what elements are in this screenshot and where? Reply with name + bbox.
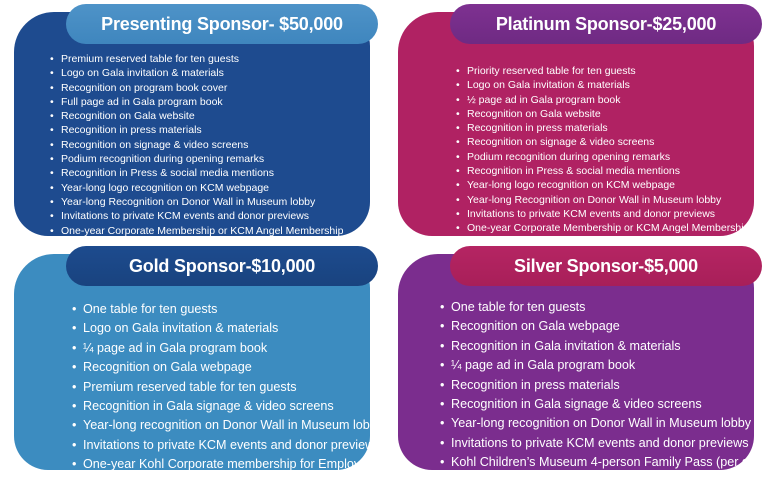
benefit-item: Year-long recognition on Donor Wall in M… xyxy=(72,416,358,435)
benefit-item: Year-long Recognition on Donor Wall in M… xyxy=(50,195,358,209)
benefit-item: Logo on Gala invitation & materials xyxy=(456,78,742,92)
card-header-presenting: Presenting Sponsor- $50,000 xyxy=(66,4,378,44)
benefit-item: Podium recognition during opening remark… xyxy=(456,150,742,164)
sponsorship-tiers-board: Presenting Sponsor- $50,000 Premium rese… xyxy=(0,0,768,496)
benefit-item: Recognition on Gala website xyxy=(50,109,358,123)
benefit-item: Year-long logo recognition on KCM webpag… xyxy=(50,181,358,195)
card-header-silver: Silver Sponsor-$5,000 xyxy=(450,246,762,286)
benefit-item: Recognition in Gala signage & video scre… xyxy=(72,397,358,416)
benefit-item: One table for ten guests xyxy=(440,298,742,317)
benefit-item: Recognition in press materials xyxy=(50,123,358,137)
benefit-item: Year-long recognition on Donor Wall in M… xyxy=(440,414,742,433)
benefit-item: Recognition on Gala website xyxy=(456,107,742,121)
benefit-item: Full page ad in Gala program book xyxy=(50,95,358,109)
benefit-item: Recognition in Press & social media ment… xyxy=(456,164,742,178)
sponsor-card-platinum: Platinum Sponsor-$25,000 Priority reserv… xyxy=(398,12,754,236)
benefit-item: Logo on Gala invitation & materials xyxy=(72,319,358,338)
benefit-item: Recognition in press materials xyxy=(440,376,742,395)
sponsor-card-silver: Silver Sponsor-$5,000 One table for ten … xyxy=(398,254,754,470)
benefit-item: Recognition in press materials xyxy=(456,121,742,135)
benefit-item: ½ page ad in Gala program book xyxy=(456,93,742,107)
benefit-item: Recognition on signage & video screens xyxy=(50,138,358,152)
benefit-item: Recognition in Gala invitation & materia… xyxy=(440,337,742,356)
benefit-item: Invitations to private KCM events and do… xyxy=(50,209,358,223)
sponsor-card-presenting: Presenting Sponsor- $50,000 Premium rese… xyxy=(14,12,370,236)
benefit-item: One-year Kohl Corporate membership for E… xyxy=(72,455,358,474)
benefit-item: Recognition on Gala webpage xyxy=(72,358,358,377)
benefits-list-silver: One table for ten guestsRecognition on G… xyxy=(440,298,742,473)
benefit-item: Year-long Recognition on Donor Wall in M… xyxy=(456,193,742,207)
benefit-item: Recognition in Press & social media ment… xyxy=(50,166,358,180)
benefit-item: Priority reserved table for ten guests xyxy=(456,64,742,78)
benefit-item: Recognition in Gala signage & video scre… xyxy=(440,395,742,414)
benefit-item: One-year Corporate Membership or KCM Ang… xyxy=(456,221,742,235)
benefit-item: ¼ page ad in Gala program book xyxy=(440,356,742,375)
benefits-list-platinum: Priority reserved table for ten guestsLo… xyxy=(456,64,742,236)
benefit-item: Invitations to private KCM events and do… xyxy=(72,436,358,455)
benefit-item: Premium reserved table for ten guests xyxy=(72,378,358,397)
benefits-list-presenting: Premium reserved table for ten guestsLog… xyxy=(50,52,358,252)
benefit-item: Recognition on Gala webpage xyxy=(440,317,742,336)
card-header-gold: Gold Sponsor-$10,000 xyxy=(66,246,378,286)
card-header-platinum: Platinum Sponsor-$25,000 xyxy=(450,4,762,44)
benefit-item: Invitations to private KCM events and do… xyxy=(456,207,742,221)
benefit-item: Logo on Gala invitation & materials xyxy=(50,66,358,80)
benefit-item: Recognition on signage & video screens xyxy=(456,135,742,149)
sponsor-card-gold: Gold Sponsor-$10,000 One table for ten g… xyxy=(14,254,370,470)
benefit-item: Invitations to private KCM events and do… xyxy=(440,434,742,453)
benefit-item: One table for ten guests xyxy=(72,300,358,319)
benefit-item: ¼ page ad in Gala program book xyxy=(72,339,358,358)
benefit-item: One-year Corporate Membership or KCM Ang… xyxy=(50,224,358,238)
benefit-item: Year-long logo recognition on KCM webpag… xyxy=(456,178,742,192)
benefit-item: Recognition on program book cover xyxy=(50,81,358,95)
benefits-list-gold: One table for ten guestsLogo on Gala inv… xyxy=(72,300,358,475)
benefit-item: Podium recognition during opening remark… xyxy=(50,152,358,166)
benefit-item: Kohl Children’s Museum 4-person Family P… xyxy=(440,453,742,472)
benefit-item: Premium reserved table for ten guests xyxy=(50,52,358,66)
